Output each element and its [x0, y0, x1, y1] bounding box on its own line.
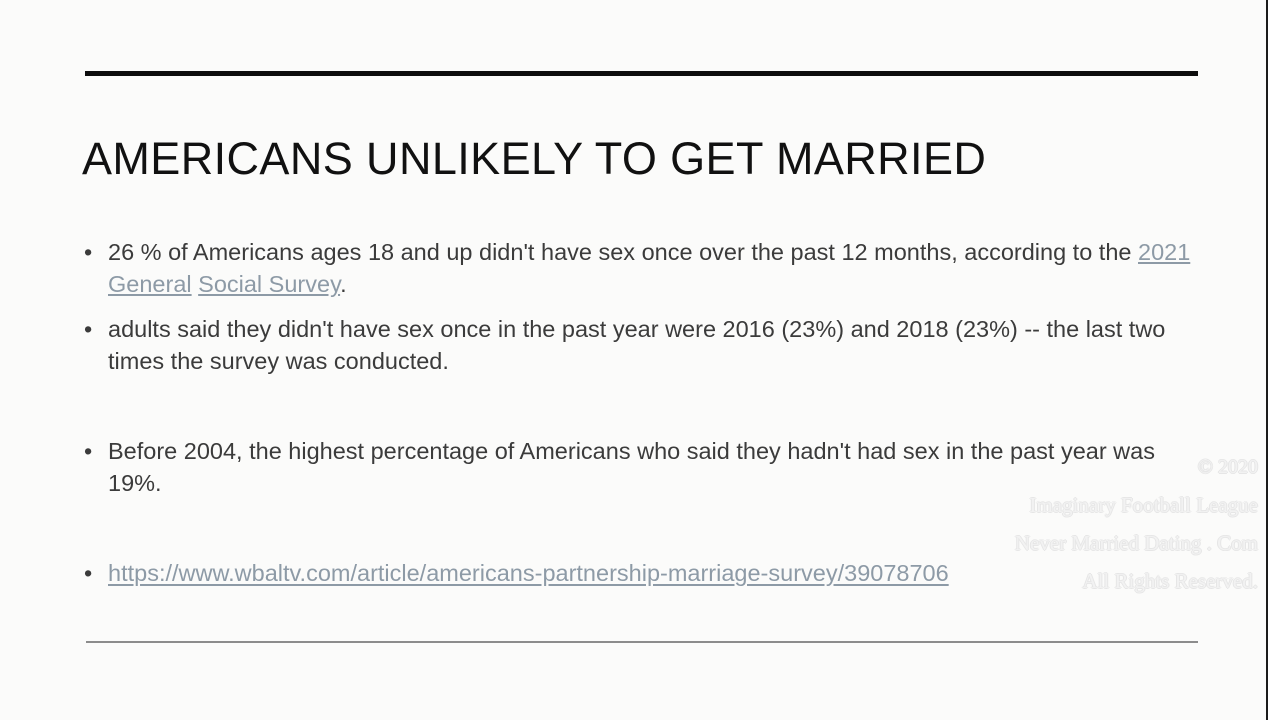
list-gap-2 — [82, 377, 1197, 435]
bullet-marker-icon: • — [82, 557, 108, 589]
slide-right-gutter — [1268, 0, 1280, 720]
bullet-1-segment-before-link: 26 % of Americans ages 18 and up didn't … — [108, 239, 1138, 265]
bullet-marker-icon: • — [82, 236, 108, 268]
list-item: • https://www.wbaltv.com/article/america… — [82, 557, 1197, 589]
bullet-marker-icon: • — [82, 313, 108, 345]
list-gap-1 — [82, 300, 1197, 313]
link-source-url[interactable]: https://www.wbaltv.com/article/americans… — [108, 560, 949, 586]
link-social-survey[interactable]: Social Survey — [198, 271, 340, 297]
page-title: AMERICANS UNLIKELY TO GET MARRIED — [82, 129, 1202, 189]
bullet-list: • 26 % of Americans ages 18 and up didn'… — [82, 236, 1197, 589]
bullet-1-segment-after-link: . — [340, 271, 347, 297]
list-item: • adults said they didn't have sex once … — [82, 313, 1197, 377]
bullet-text-3: Before 2004, the highest percentage of A… — [108, 435, 1197, 499]
slide-canvas: AMERICANS UNLIKELY TO GET MARRIED • 26 %… — [0, 0, 1280, 720]
bullet-text-4: https://www.wbaltv.com/article/americans… — [108, 557, 1197, 589]
list-item: • 26 % of Americans ages 18 and up didn'… — [82, 236, 1197, 300]
title-divider-rule — [85, 71, 1198, 76]
bullet-text-2: adults said they didn't have sex once in… — [108, 313, 1197, 377]
bullet-text-1: 26 % of Americans ages 18 and up didn't … — [108, 236, 1197, 300]
list-gap-3 — [82, 499, 1197, 557]
list-item: • Before 2004, the highest percentage of… — [82, 435, 1197, 499]
footer-divider-rule — [86, 641, 1198, 643]
bullet-marker-icon: • — [82, 435, 108, 467]
